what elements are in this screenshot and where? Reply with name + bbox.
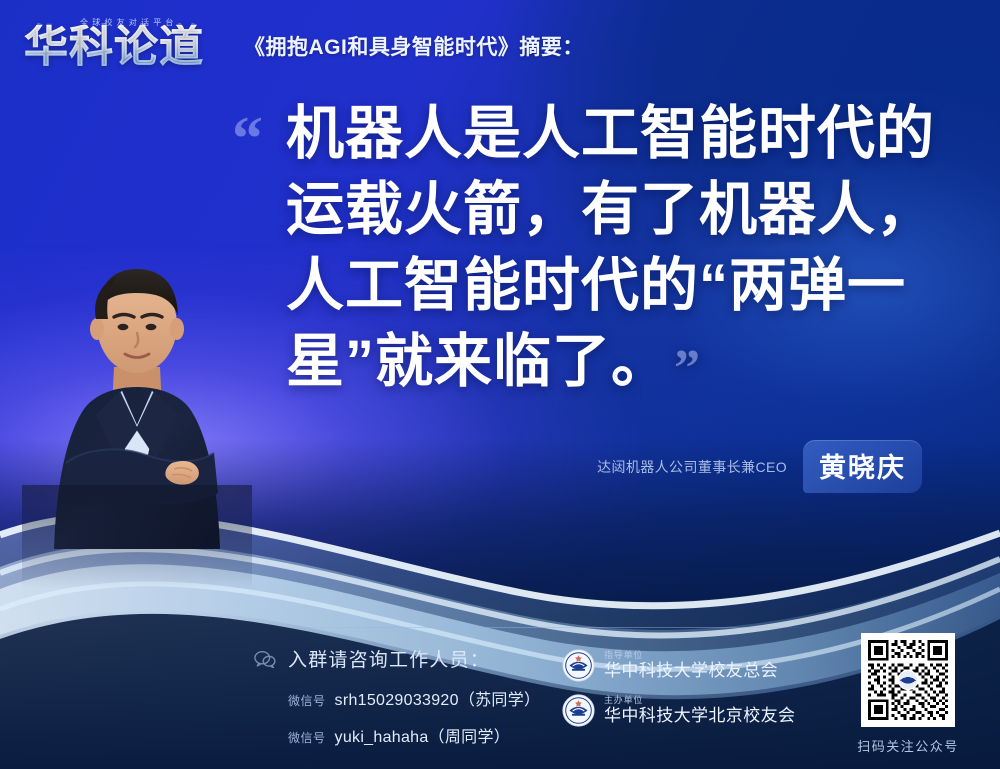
organization-name: 华中科技大学北京校友会 — [604, 707, 795, 725]
organization-text: 主办单位 华中科技大学北京校友会 — [604, 696, 795, 725]
organization-row: 主办单位 华中科技大学北京校友会 — [562, 694, 795, 727]
poster-header: 全球校友对话平台 华科论道 《拥抱AGI和具身智能时代》摘要： — [0, 0, 1000, 92]
quote-close-mark: ” — [674, 343, 701, 395]
logo-wordmark: 华科论道 — [24, 25, 204, 69]
footer-heading: 入群请咨询工作人员： — [288, 645, 490, 672]
contact-row: 微信号 yuki_hahaha（周同学） — [288, 723, 540, 747]
organization-kind: 指导单位 — [604, 651, 778, 660]
footer-divider — [288, 627, 810, 628]
qr-code-icon[interactable] — [861, 633, 955, 727]
contact-label: 微信号 — [288, 692, 326, 709]
quote-block: “ 机器人是人工智能时代的运载火箭，有了机器人，人工智能时代的“两弹一星”就来临… — [228, 96, 958, 400]
contact-value[interactable]: yuki_hahaha（周同学） — [335, 723, 511, 747]
brand-logo: 全球校友对话平台 华科论道 — [24, 15, 218, 77]
organization-text: 指导单位 华中科技大学校友总会 — [604, 651, 778, 680]
organizations-section: 指导单位 华中科技大学校友总会 — [562, 649, 795, 739]
hust-seal-icon — [562, 649, 595, 682]
contact-value[interactable]: srh15029033920（苏同学） — [335, 686, 541, 710]
contact-row: 微信号 srh15029033920（苏同学） — [288, 686, 540, 710]
page-title: 《拥抱AGI和具身智能时代》摘要： — [244, 31, 584, 61]
footer-heading-row: 入群请咨询工作人员： — [254, 645, 540, 672]
quote-text: 机器人是人工智能时代的运载火箭，有了机器人，人工智能时代的“两弹一星”就来临了。… — [228, 96, 958, 400]
speaker-portrait — [22, 249, 252, 589]
speaker-role: 达闼机器人公司董事长兼CEO — [597, 457, 787, 477]
quote-tail: 临了。 — [493, 329, 670, 394]
qr-caption: 扫码关注公众号 — [844, 736, 972, 755]
qr-section: 扫码关注公众号 — [844, 633, 972, 755]
poster-root: 全球校友对话平台 华科论道 《拥抱AGI和具身智能时代》摘要： — [0, 0, 1000, 769]
speaker-name-badge: 黄晓庆 — [803, 440, 922, 493]
wechat-icon — [254, 650, 276, 668]
hust-seal-icon — [562, 694, 595, 727]
poster-footer: 入群请咨询工作人员： 微信号 srh15029033920（苏同学） 微信号 y… — [0, 619, 1000, 769]
attribution: 达闼机器人公司董事长兼CEO 黄晓庆 — [597, 440, 922, 493]
contact-label: 微信号 — [288, 729, 326, 746]
quote-open-mark: “ — [232, 108, 263, 170]
footer-contact-section: 入群请咨询工作人员： 微信号 srh15029033920（苏同学） 微信号 y… — [254, 645, 540, 760]
organization-row: 指导单位 华中科技大学校友总会 — [562, 649, 795, 682]
organization-name: 华中科技大学校友总会 — [604, 662, 778, 680]
organization-kind: 主办单位 — [604, 696, 795, 705]
